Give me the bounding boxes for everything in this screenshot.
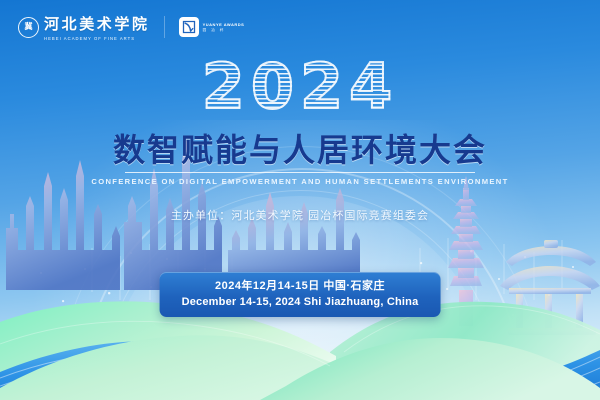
university-logo[interactable]: 冀 河北美术学院 HEBEI ACADEMY OF FINE ARTS xyxy=(18,13,150,41)
date-en: December 14-15, 2024 Shi Jiazhuang, Chin… xyxy=(182,295,419,311)
university-seal-icon: 冀 xyxy=(18,17,39,38)
conference-banner: 冀 河北美术学院 HEBEI ACADEMY OF FINE ARTS YUAN… xyxy=(0,0,600,400)
header-logos: 冀 河北美术学院 HEBEI ACADEMY OF FINE ARTS YUAN… xyxy=(18,13,244,41)
award-logo[interactable]: YUANYE AWARDS 园 冶 杯 xyxy=(179,17,245,37)
date-plaque: 2024年12月14-15日 中国·石家庄 December 14-15, 20… xyxy=(160,272,441,317)
organizer-line: 主办单位：河北美术学院 园冶杯国际竞赛组委会 xyxy=(0,207,600,223)
page-title: 数智赋能与人居环境大会 xyxy=(0,130,600,170)
award-name-cn: 园 冶 杯 xyxy=(203,28,245,33)
university-name-cn: 河北美术学院 xyxy=(44,13,150,34)
subtitle-block: CONFERENCE ON DIGITAL EMPOWERMENT AND HU… xyxy=(0,172,600,186)
logo-divider xyxy=(164,16,165,38)
page-subtitle-en: CONFERENCE ON DIGITAL EMPOWERMENT AND HU… xyxy=(0,177,600,186)
year-2024: 2024 xyxy=(0,56,600,118)
award-name-en: YUANYE AWARDS xyxy=(203,22,245,27)
university-name-en: HEBEI ACADEMY OF FINE ARTS xyxy=(44,36,150,41)
yuanye-award-mark-icon xyxy=(179,17,199,37)
title-rule xyxy=(125,172,475,173)
date-cn: 2024年12月14-15日 中国·石家庄 xyxy=(182,278,419,295)
seal-glyph: 冀 xyxy=(25,23,33,31)
